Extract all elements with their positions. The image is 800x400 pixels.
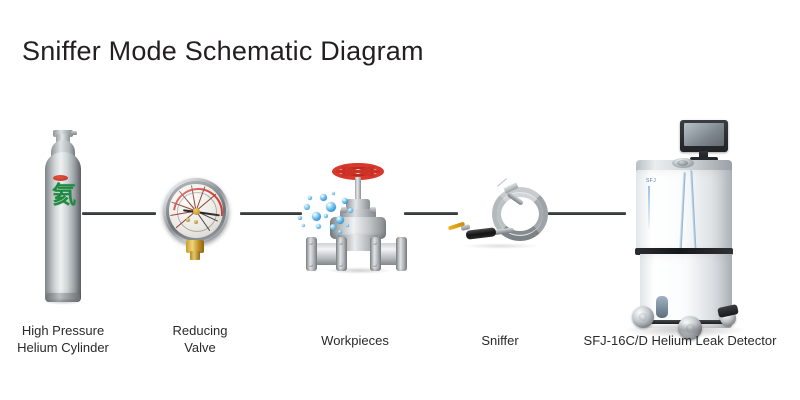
- leak-bubble: [324, 214, 328, 218]
- stage-reducing-valve: [160, 178, 240, 268]
- flange-bolt: [339, 241, 343, 245]
- connector-sniffer-to-detector: [548, 212, 626, 215]
- cylinder-shadow: [42, 298, 84, 305]
- stage-helium-cylinder: 氦: [40, 130, 86, 302]
- sniffer-connector-pins: [497, 178, 507, 186]
- gauge-dial-screw: [194, 220, 198, 224]
- gauge-dial-face: [169, 184, 223, 238]
- leak-bubble: [304, 204, 310, 210]
- detector-accent-stripe: [648, 186, 650, 228]
- label-workpieces: Workpieces: [295, 332, 415, 349]
- cylinder-helium-character: 氦: [49, 182, 79, 208]
- valve-flange-end: [396, 237, 407, 271]
- detector-test-port-inner: [677, 160, 688, 166]
- page-title: Sniffer Mode Schematic Diagram: [22, 36, 424, 67]
- connector-gauge-to-workpieces: [240, 212, 302, 215]
- label-reducing-valve: Reducing Valve: [140, 322, 260, 356]
- leak-bubble: [342, 198, 348, 204]
- leak-bubble: [308, 196, 312, 200]
- flange-bolt: [309, 263, 313, 267]
- detector-caster-hub: [639, 313, 647, 321]
- leak-bubble: [298, 216, 302, 220]
- detector-brand-label: SFJ: [646, 178, 656, 184]
- valve-shadow: [326, 267, 392, 274]
- gauge-brass-thread: [190, 251, 200, 260]
- gauge-dial-screw: [186, 218, 190, 222]
- leak-bubbles-group: [296, 190, 356, 240]
- leak-bubble: [326, 202, 336, 212]
- leak-bubble: [330, 224, 336, 230]
- leak-bubble: [346, 224, 349, 227]
- leak-bubble: [316, 224, 321, 229]
- label-sniffer: Sniffer: [450, 332, 550, 349]
- leak-bubble: [348, 208, 353, 213]
- gauge-needle-hub: [193, 208, 200, 215]
- detector-screen[interactable]: [684, 123, 724, 146]
- detector-access-handle[interactable]: [656, 296, 668, 318]
- leak-bubble: [302, 224, 305, 227]
- label-helium-cylinder: High Pressure Helium Cylinder: [3, 322, 123, 356]
- leak-bubble: [336, 216, 344, 224]
- sniffer-shadow: [462, 243, 540, 249]
- valve-yoke-nut: [370, 207, 376, 213]
- flange-bolt: [373, 241, 377, 245]
- label-leak-detector: SFJ-16C/D Helium Leak Detector: [560, 332, 800, 349]
- leak-bubble: [320, 194, 327, 201]
- stage-sniffer: [448, 185, 552, 257]
- diagram-canvas: Sniffer Mode Schematic Diagram 氦 High Pr…: [0, 0, 800, 400]
- leak-bubble: [338, 230, 342, 234]
- flange-bolt: [309, 241, 313, 245]
- leak-bubble: [312, 212, 321, 221]
- connector-cylinder-to-gauge: [82, 212, 156, 215]
- leak-bubble: [332, 192, 335, 195]
- sniffer-handle: [466, 227, 497, 240]
- stage-leak-detector: SFJ: [620, 120, 750, 305]
